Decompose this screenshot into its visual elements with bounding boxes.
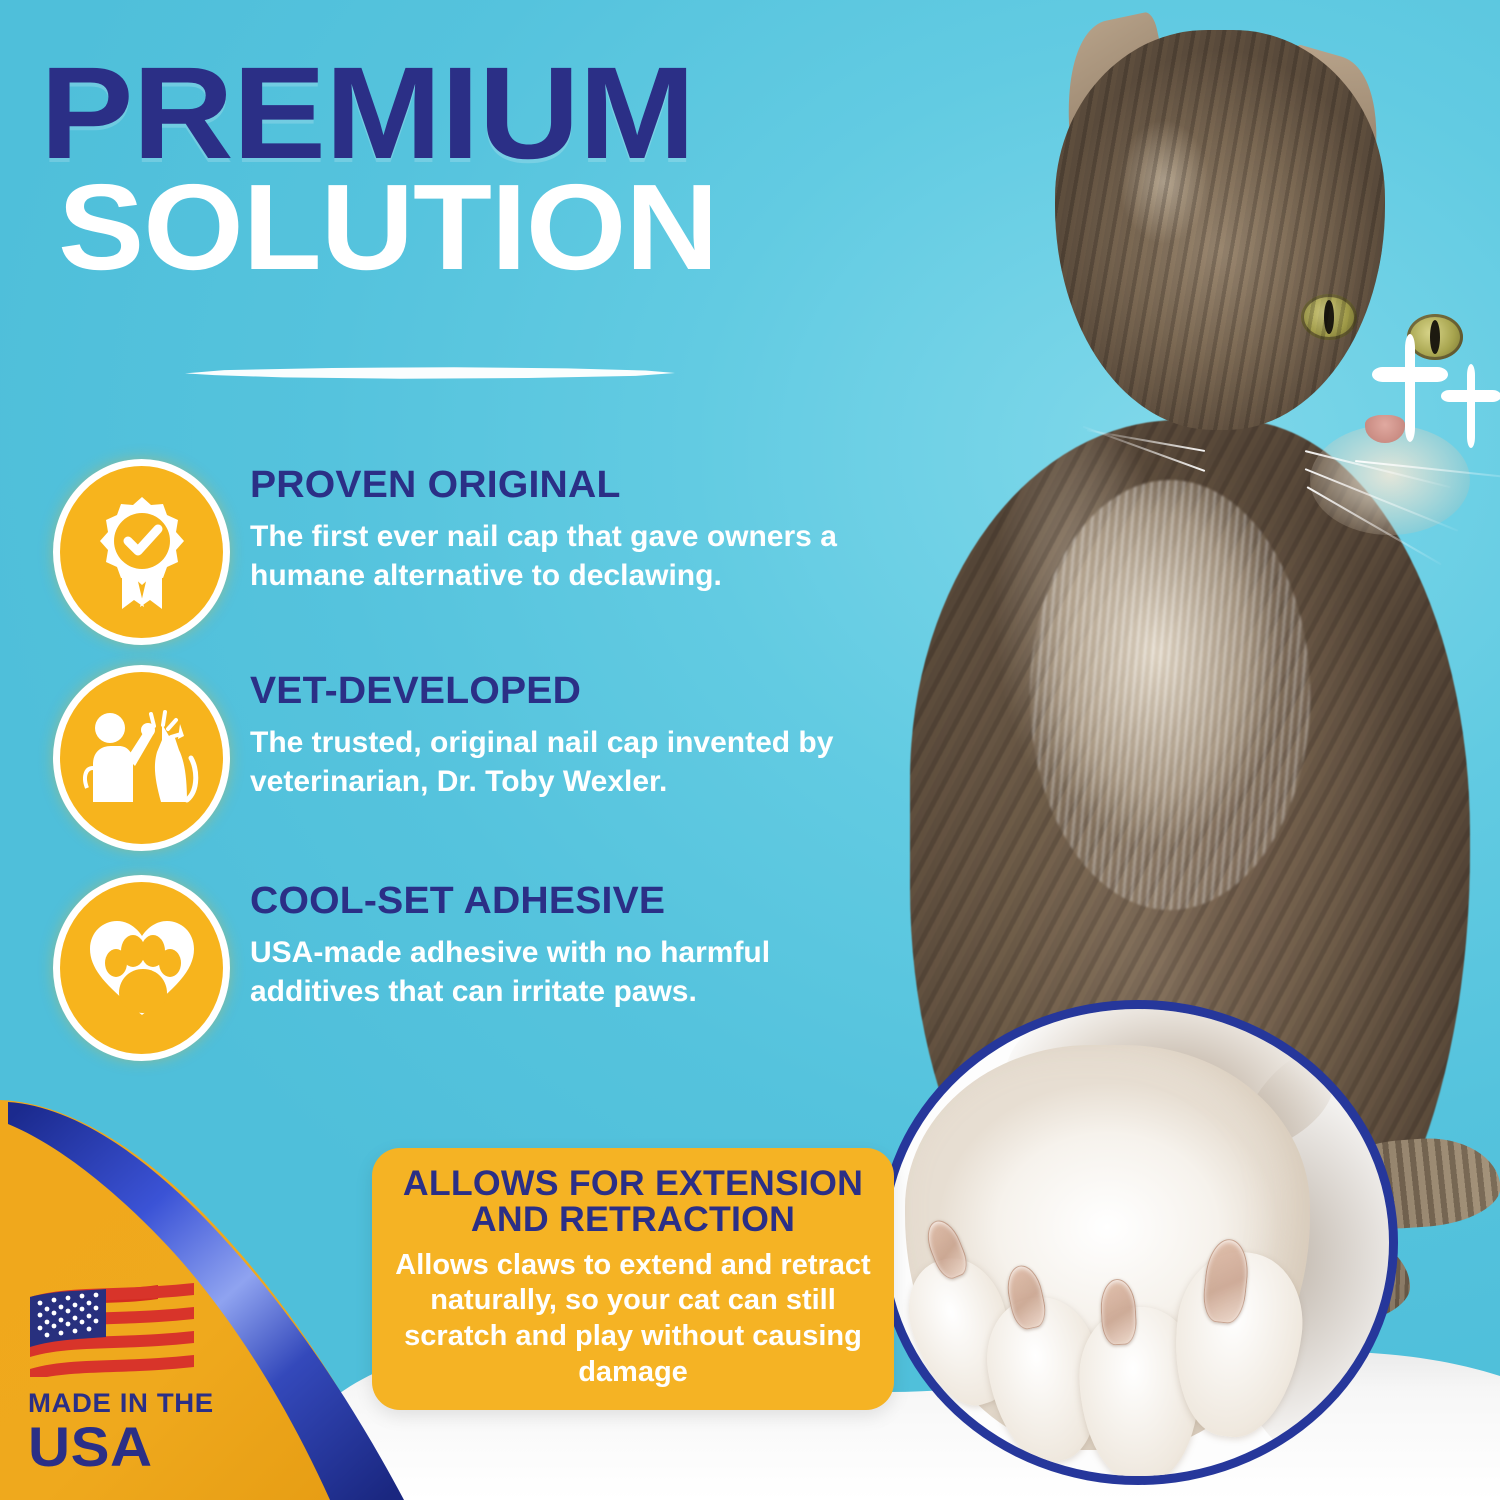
lens-divider [185,364,675,382]
feature-item: COOL-SET ADHESIVE USA-made adhesive with… [60,882,860,1042]
headline-line-1: PREMIUM [40,55,928,170]
feature-description: The trusted, original nail cap invented … [250,723,850,802]
poster-canvas: PREMIUM SOLUTION PROVEN ORIGINAL The fir… [0,0,1500,1500]
made-in-usa-badge: MADE IN THE USA [28,1281,248,1491]
usa-flag-icon [28,1281,196,1377]
sparkle-icon [1372,318,1448,426]
callout-title-line-2: AND RETRACTION [389,1202,877,1238]
page-title: PREMIUM SOLUTION [40,55,870,282]
vet-high-five-cat-icon [60,672,223,844]
usa-badge-line-2: USA [28,1420,257,1473]
feature-item: PROVEN ORIGINAL The first ever nail cap … [60,466,860,626]
feature-list: PROVEN ORIGINAL The first ever nail cap … [60,466,860,1088]
sparkle-icon [1441,352,1500,436]
callout-description: Allows claws to extend and retract natur… [394,1248,872,1391]
heart-paw-icon [60,882,223,1054]
feature-title: VET-DEVELOPED [250,672,878,710]
award-ribbon-icon [60,466,223,638]
feature-title: PROVEN ORIGINAL [250,466,878,504]
headline-line-2: SOLUTION [58,174,919,281]
cat-chest-ruff [1030,480,1310,910]
feature-description: USA-made adhesive with no harmful additi… [250,933,850,1012]
feature-title: COOL-SET ADHESIVE [250,882,878,920]
callout-title-line-1: ALLOWS FOR EXTENSION [389,1166,877,1202]
cat-eye-left [1301,294,1357,340]
cat-paw-with-nail-caps-photo [878,1000,1398,1485]
feature-item: VET-DEVELOPED The trusted, original nail… [60,672,860,832]
feature-description: The first ever nail cap that gave owners… [250,517,850,596]
callout-box: ALLOWS FOR EXTENSION AND RETRACTION Allo… [372,1148,894,1410]
cat-head [1055,30,1385,430]
